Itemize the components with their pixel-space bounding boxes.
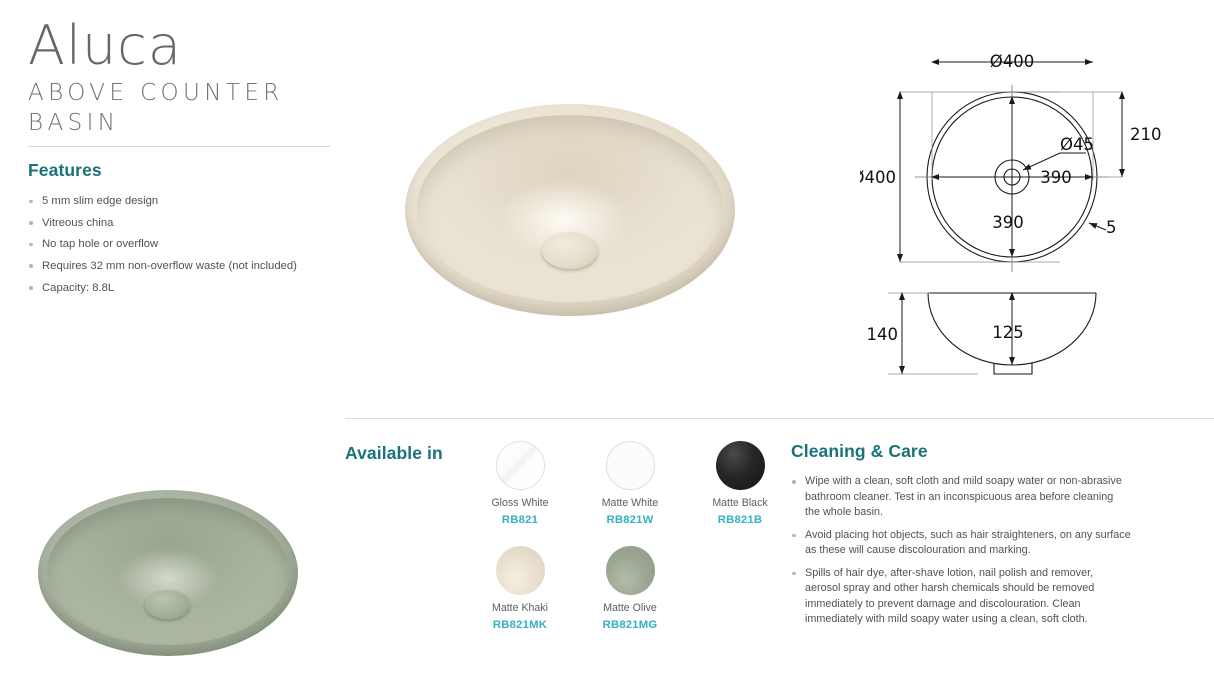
dim-inner-depth: 125 bbox=[992, 323, 1024, 342]
list-item: No tap hole or overflow bbox=[28, 237, 348, 252]
swatch-code: RB821B bbox=[685, 514, 795, 526]
list-item: Avoid placing hot objects, such as hair … bbox=[791, 528, 1131, 559]
swatch-code: RB821MK bbox=[465, 619, 575, 631]
title-divider bbox=[28, 146, 330, 147]
leader-edge bbox=[1089, 223, 1106, 230]
product-photo-khaki bbox=[405, 104, 735, 316]
swatch-code: RB821 bbox=[465, 514, 575, 526]
features-heading: Features bbox=[28, 160, 348, 181]
colour-swatch-icon bbox=[496, 546, 545, 595]
dim-inner-vertical: 390 bbox=[992, 213, 1024, 232]
list-item: Vitreous china bbox=[28, 216, 348, 231]
product-subtitle: ABOVE COUNTER BASIN bbox=[28, 78, 348, 139]
colour-swatch-icon bbox=[606, 441, 655, 490]
dim-inner-horizontal: 390 bbox=[1040, 168, 1072, 187]
basin-rim bbox=[38, 490, 298, 656]
swatch-label: Matte White bbox=[575, 497, 685, 511]
list-item: Spills of hair dye, after-shave lotion, … bbox=[791, 566, 1131, 628]
dim-diameter-left: Ø400 bbox=[860, 168, 896, 187]
colour-swatch-icon bbox=[496, 441, 545, 490]
dim-edge-thickness: 5 bbox=[1106, 218, 1117, 237]
colour-swatch-icon bbox=[716, 441, 765, 490]
available-colours-section: Available in Gloss White RB821 Matte Whi… bbox=[345, 441, 775, 661]
section-divider bbox=[345, 418, 1214, 419]
list-item: Wipe with a clean, soft cloth and mild s… bbox=[791, 474, 1131, 521]
swatch-label: Gloss White bbox=[465, 497, 575, 511]
swatch-label: Matte Khaki bbox=[465, 602, 575, 616]
swatch-label: Matte Olive bbox=[575, 602, 685, 616]
drawing-svg: Ø400 Ø400 210 390 390 bbox=[860, 40, 1214, 385]
features-section: Features 5 mm slim edge design Vitreous … bbox=[28, 160, 348, 302]
available-heading: Available in bbox=[345, 443, 443, 464]
swatch-matte-black[interactable]: Matte Black RB821B bbox=[685, 441, 795, 526]
dim-overall-height: 140 bbox=[867, 325, 899, 344]
basin-bowl bbox=[47, 498, 288, 645]
swatch-matte-olive[interactable]: Matte Olive RB821MG bbox=[575, 546, 685, 631]
swatch-matte-white[interactable]: Matte White RB821W bbox=[575, 441, 685, 526]
colour-swatch-icon bbox=[606, 546, 655, 595]
basin-rim bbox=[405, 104, 735, 316]
swatch-matte-khaki[interactable]: Matte Khaki RB821MK bbox=[465, 546, 575, 631]
cleaning-care-section: Cleaning & Care Wipe with a clean, soft … bbox=[791, 441, 1131, 635]
technical-drawing: Ø400 Ø400 210 390 390 bbox=[860, 40, 1214, 385]
swatch-grid: Gloss White RB821 Matte White RB821W Mat… bbox=[465, 441, 775, 631]
list-item: 5 mm slim edge design bbox=[28, 194, 348, 209]
swatch-code: RB821W bbox=[575, 514, 685, 526]
cleaning-list: Wipe with a clean, soft cloth and mild s… bbox=[791, 474, 1131, 628]
title-block: Aluca ABOVE COUNTER BASIN bbox=[28, 18, 348, 139]
product-photo-olive bbox=[38, 490, 298, 656]
swatch-code: RB821MG bbox=[575, 619, 685, 631]
basin-bowl bbox=[417, 115, 723, 303]
cleaning-heading: Cleaning & Care bbox=[791, 441, 1131, 462]
features-list: 5 mm slim edge design Vitreous china No … bbox=[28, 194, 348, 296]
product-name: Aluca bbox=[28, 18, 348, 74]
swatch-label: Matte Black bbox=[685, 497, 795, 511]
dim-offset-right: 210 bbox=[1130, 125, 1162, 144]
list-item: Capacity: 8.8L bbox=[28, 281, 348, 296]
product-spec-sheet: Aluca ABOVE COUNTER BASIN Features 5 mm … bbox=[0, 0, 1214, 699]
dim-drain-diameter: Ø45 bbox=[1060, 135, 1094, 154]
swatch-gloss-white[interactable]: Gloss White RB821 bbox=[465, 441, 575, 526]
list-item: Requires 32 mm non-overflow waste (not i… bbox=[28, 259, 348, 274]
dim-diameter-top: Ø400 bbox=[990, 52, 1034, 71]
